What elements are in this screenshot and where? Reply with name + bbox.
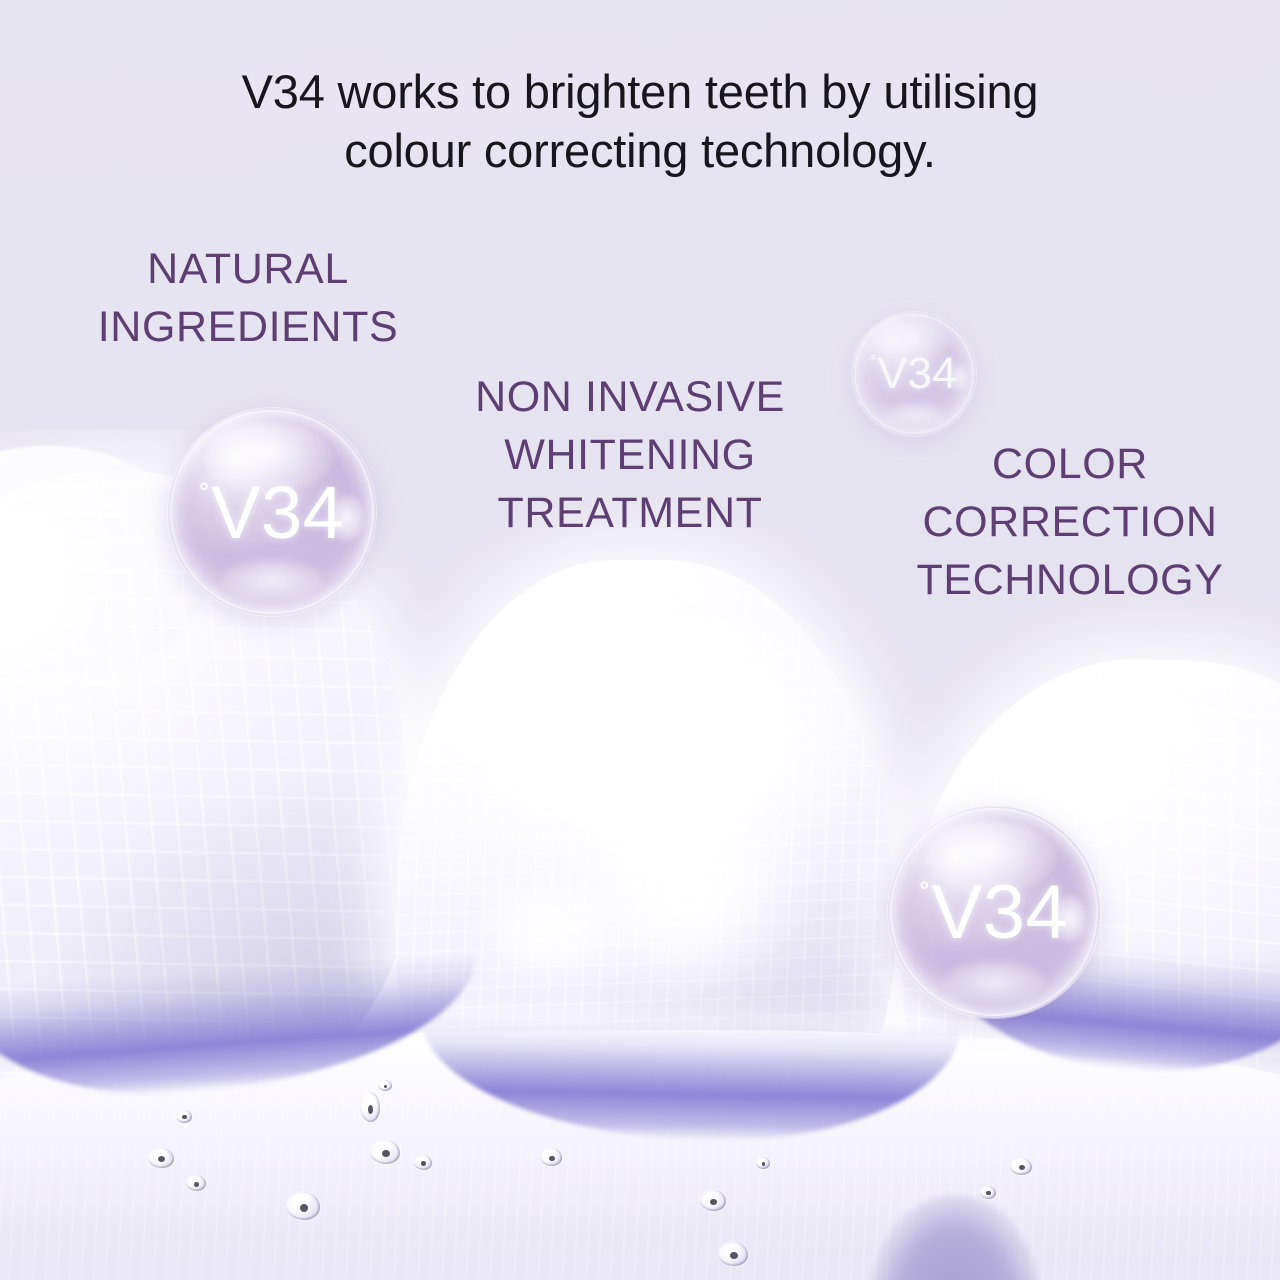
feature-line: NATURAL [38, 240, 458, 298]
water-droplet [176, 1110, 192, 1123]
bubble-highlight-bottom [222, 560, 322, 602]
water-droplet [1010, 1158, 1032, 1175]
v34-bubble-label: ˚V34 [920, 869, 1069, 956]
v34-text: V34 [211, 471, 344, 554]
water-droplet [370, 1140, 400, 1164]
headline-line-1: V34 works to brighten teeth by utilising [0, 62, 1280, 121]
headline: V34 works to brighten teeth by utilising… [0, 62, 1280, 180]
feature-label-natural-ingredients: NATURAL INGREDIENTS [38, 240, 458, 356]
water-droplet [360, 1092, 380, 1122]
headline-line-2: colour correcting technology. [0, 121, 1280, 180]
degree-mark: ˚ [920, 878, 931, 914]
degree-mark: ˚ [871, 353, 878, 374]
feature-label-non-invasive-whitening-treatment: NON INVASIVE WHITENING TREATMENT [420, 368, 840, 542]
bubble-highlight-bottom [943, 961, 1045, 1003]
feature-line: COLOR [870, 435, 1270, 493]
feature-line: CORRECTION [870, 493, 1270, 551]
water-droplet [378, 1080, 392, 1091]
product-promo-image: V34 works to brighten teeth by utilising… [0, 0, 1280, 1280]
feature-line: INGREDIENTS [38, 298, 458, 356]
feature-line: WHITENING [420, 426, 840, 484]
water-droplet [148, 1148, 174, 1168]
feature-line: TREATMENT [420, 484, 840, 542]
water-droplet [700, 1190, 726, 1211]
v34-bubble-top-right: ˚V34 [852, 312, 976, 436]
degree-mark: ˚ [200, 480, 211, 515]
water-droplet [414, 1155, 432, 1170]
feature-label-color-correction-technology: COLOR CORRECTION TECHNOLOGY [870, 435, 1270, 609]
feature-line: TECHNOLOGY [870, 551, 1270, 609]
v34-bubble-label: ˚V34 [200, 470, 345, 555]
water-droplet [756, 1157, 770, 1169]
v34-text: V34 [878, 349, 958, 398]
water-droplet [540, 1148, 562, 1166]
v34-bubble-label: ˚V34 [871, 349, 958, 399]
water-droplet [980, 1186, 996, 1199]
feature-line: NON INVASIVE [420, 368, 840, 426]
v34-text: V34 [932, 870, 1069, 955]
water-droplet [718, 1242, 748, 1266]
water-droplet [286, 1192, 320, 1220]
water-droplet [186, 1175, 206, 1191]
v34-bubble-left: ˚V34 [168, 408, 376, 616]
bubble-highlight-bottom [884, 403, 944, 428]
v34-bubble-bottom-right: ˚V34 [888, 806, 1100, 1018]
